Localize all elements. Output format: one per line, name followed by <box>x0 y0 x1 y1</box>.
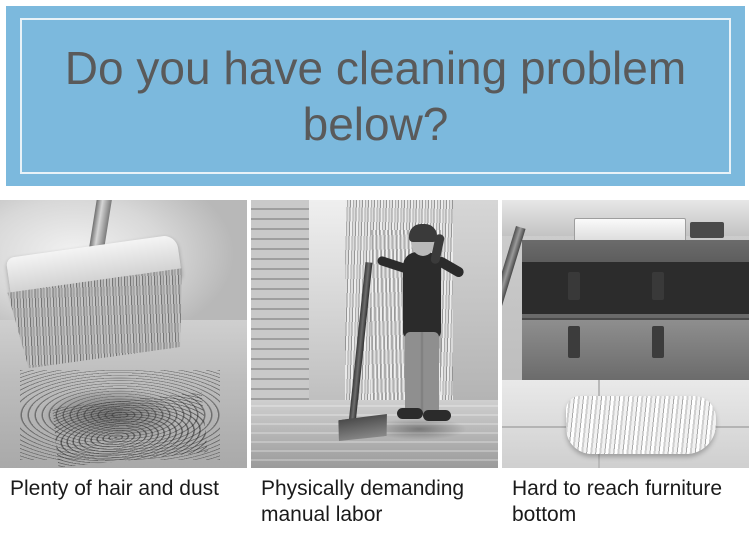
caption-text: Hard to reach furniture bottom <box>512 476 739 529</box>
woman-sweeping-photo <box>251 200 498 468</box>
caption-text: Plenty of hair and dust <box>10 476 237 502</box>
card-hair-dust: Plenty of hair and dust <box>0 200 247 547</box>
photo-card-row: Plenty of hair and dust <box>0 200 751 547</box>
cabinet-handle-lower-right <box>652 326 664 358</box>
person-hair <box>409 224 437 242</box>
cabinet-handle-lower-left <box>568 326 580 358</box>
page-title: Do you have cleaning problem below? <box>36 40 716 152</box>
card-manual-labor: Physically demanding manual labor <box>251 200 498 547</box>
caption-furniture-bottom: Hard to reach furniture bottom <box>502 468 749 547</box>
wall-right-shape <box>453 200 498 400</box>
slide-root: Do you have cleaning problem below? Plen… <box>0 0 751 547</box>
shelf-dark-object <box>690 222 724 238</box>
caption-manual-labor: Physically demanding manual labor <box>251 468 498 547</box>
caption-text: Physically demanding manual labor <box>261 476 488 529</box>
window-shape <box>309 200 345 410</box>
shelf-box-object <box>574 218 686 242</box>
cabinet-handle-upper-left <box>568 272 580 300</box>
header-banner: Do you have cleaning problem below? <box>6 6 745 186</box>
cabinet-drawer-front <box>522 318 749 382</box>
cabinet-shadow-recess <box>522 262 749 314</box>
cabinet-handle-upper-right <box>652 272 664 300</box>
person-shoe-left <box>397 408 423 419</box>
mop-under-furniture-photo <box>502 200 749 468</box>
broom-hair-photo <box>0 200 247 468</box>
person-legs <box>405 332 439 414</box>
caption-hair-dust: Plenty of hair and dust <box>0 468 247 547</box>
wall-left-shape <box>251 200 309 415</box>
header-inner-frame: Do you have cleaning problem below? <box>20 18 731 174</box>
mop-head-shape <box>566 396 716 454</box>
person-torso <box>403 252 441 338</box>
card-furniture-bottom: Hard to reach furniture bottom <box>502 200 749 547</box>
person-shoe-right <box>423 410 451 421</box>
